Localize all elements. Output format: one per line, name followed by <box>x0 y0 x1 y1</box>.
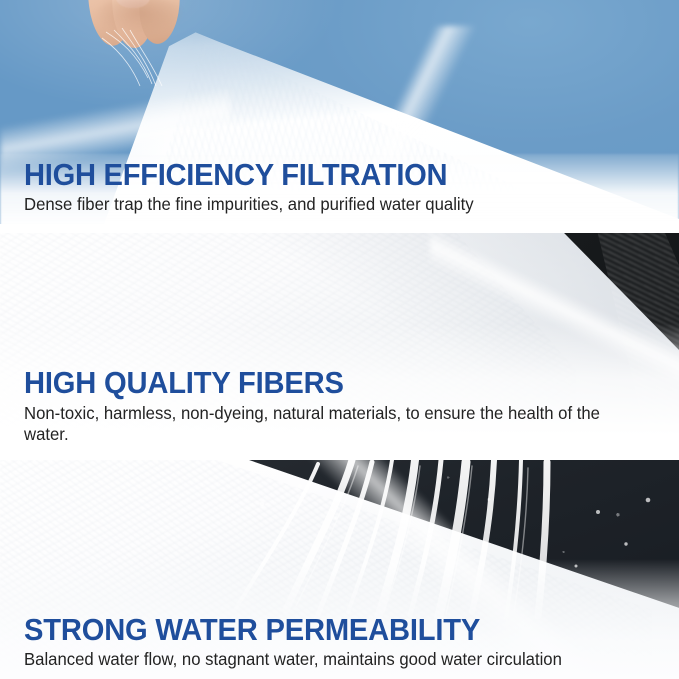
feature-panel-filtration: HIGH EFFICIENCY FILTRATION Dense fiber t… <box>0 0 679 226</box>
panel-3-subheading: Balanced water flow, no stagnant water, … <box>24 649 632 671</box>
panel-3-heading: STRONG WATER PERMEABILITY <box>24 614 623 646</box>
panel-divider <box>0 224 679 233</box>
panel-1-heading: HIGH EFFICIENCY FILTRATION <box>24 159 623 191</box>
feature-panel-fibers: HIGH QUALITY FIBERS Non-toxic, harmless,… <box>0 232 679 454</box>
panel-3-text-block: STRONG WATER PERMEABILITY Balanced water… <box>24 614 661 671</box>
panel-divider <box>0 451 679 460</box>
loose-fiber-icon <box>96 28 216 88</box>
product-feature-infographic: HIGH EFFICIENCY FILTRATION Dense fiber t… <box>0 0 679 679</box>
panel-2-heading: HIGH QUALITY FIBERS <box>24 367 623 399</box>
panel-1-subheading: Dense fiber trap the fine impurities, an… <box>24 194 632 216</box>
panel-1-text-block: HIGH EFFICIENCY FILTRATION Dense fiber t… <box>24 159 661 216</box>
panel-2-subheading: Non-toxic, harmless, non-dyeing, natural… <box>24 403 632 446</box>
feature-panel-permeability: STRONG WATER PERMEABILITY Balanced water… <box>0 460 679 679</box>
panel-2-text-block: HIGH QUALITY FIBERS Non-toxic, harmless,… <box>24 367 661 446</box>
